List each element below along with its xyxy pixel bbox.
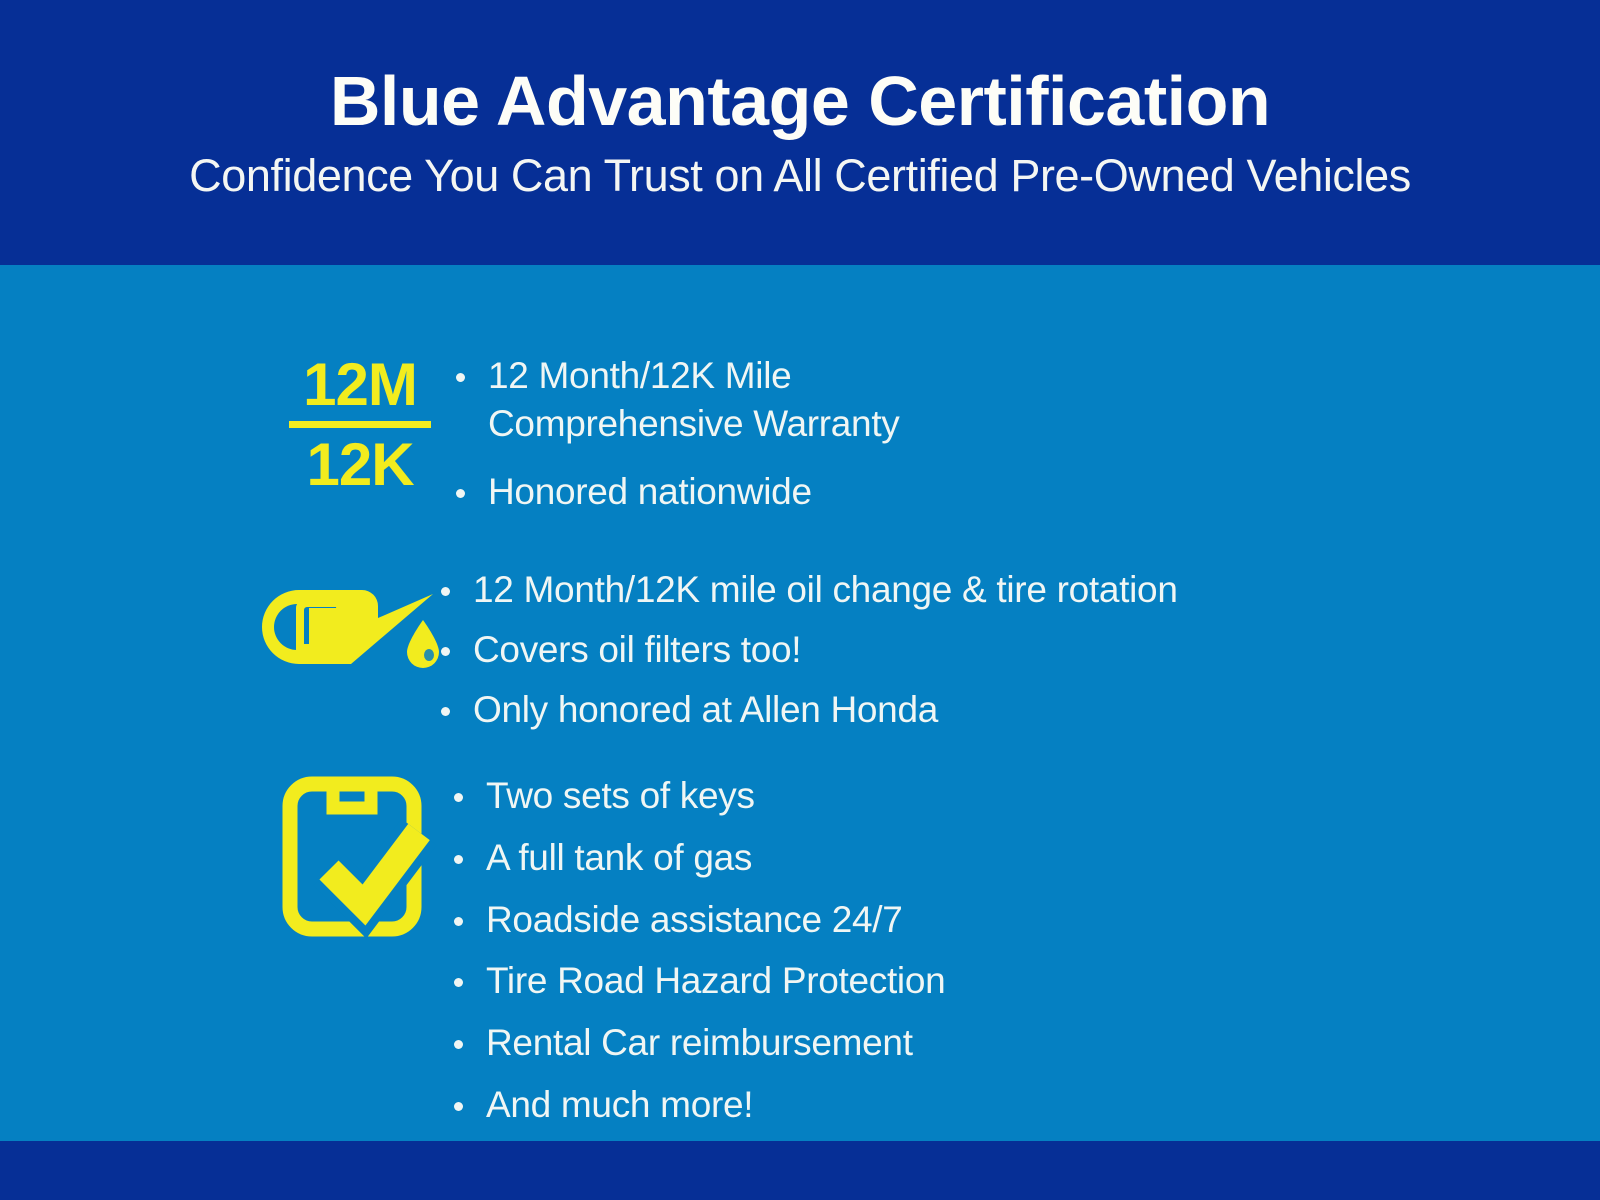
list-item: Covers oil filters too! [435,626,1178,675]
list-item: Rental Car reimbursement [448,1019,945,1068]
12m-over-12k-icon: 12M 12K [289,354,431,496]
blue-advantage-certification-poster: Blue Advantage Certification Confidence … [0,0,1600,1200]
clipboard-check-icon [278,774,438,939]
feature-list-extras: Two sets of keys A full tank of gas Road… [448,772,945,1143]
fraction-divider-rule [289,421,431,428]
list-item: 12 Month/12K Mile Comprehensive Warranty [450,352,900,448]
feature-icon-slot [268,772,448,939]
feature-group-warranty: 12M 12K 12 Month/12K Mile Comprehensive … [270,352,900,522]
fraction-denominator-label: 12K [306,434,413,496]
list-item: Roadside assistance 24/7 [448,896,945,945]
feature-group-extras: Two sets of keys A full tank of gas Road… [268,772,945,1143]
fraction-numerator-label: 12M [303,354,417,416]
list-item: Only honored at Allen Honda [435,686,1178,735]
oil-can-icon [247,572,443,676]
feature-icon-slot [255,566,435,676]
list-item: A full tank of gas [448,834,945,883]
list-item: 12 Month/12K mile oil change & tire rota… [435,566,1178,615]
list-item: And much more! [448,1081,945,1130]
feature-icon-slot: 12M 12K [270,352,450,496]
feature-list-maintenance: 12 Month/12K mile oil change & tire rota… [435,566,1178,745]
list-item: Two sets of keys [448,772,945,821]
page-title: Blue Advantage Certification [330,66,1270,137]
poster-header: Blue Advantage Certification Confidence … [0,0,1600,265]
list-item: Tire Road Hazard Protection [448,957,945,1006]
list-item: Honored nationwide [450,468,900,516]
feature-list-warranty: 12 Month/12K Mile Comprehensive Warranty… [450,352,900,522]
feature-group-maintenance: 12 Month/12K mile oil change & tire rota… [255,566,1178,745]
page-subtitle: Confidence You Can Trust on All Certifie… [189,152,1411,199]
poster-footer-bar [0,1141,1600,1200]
